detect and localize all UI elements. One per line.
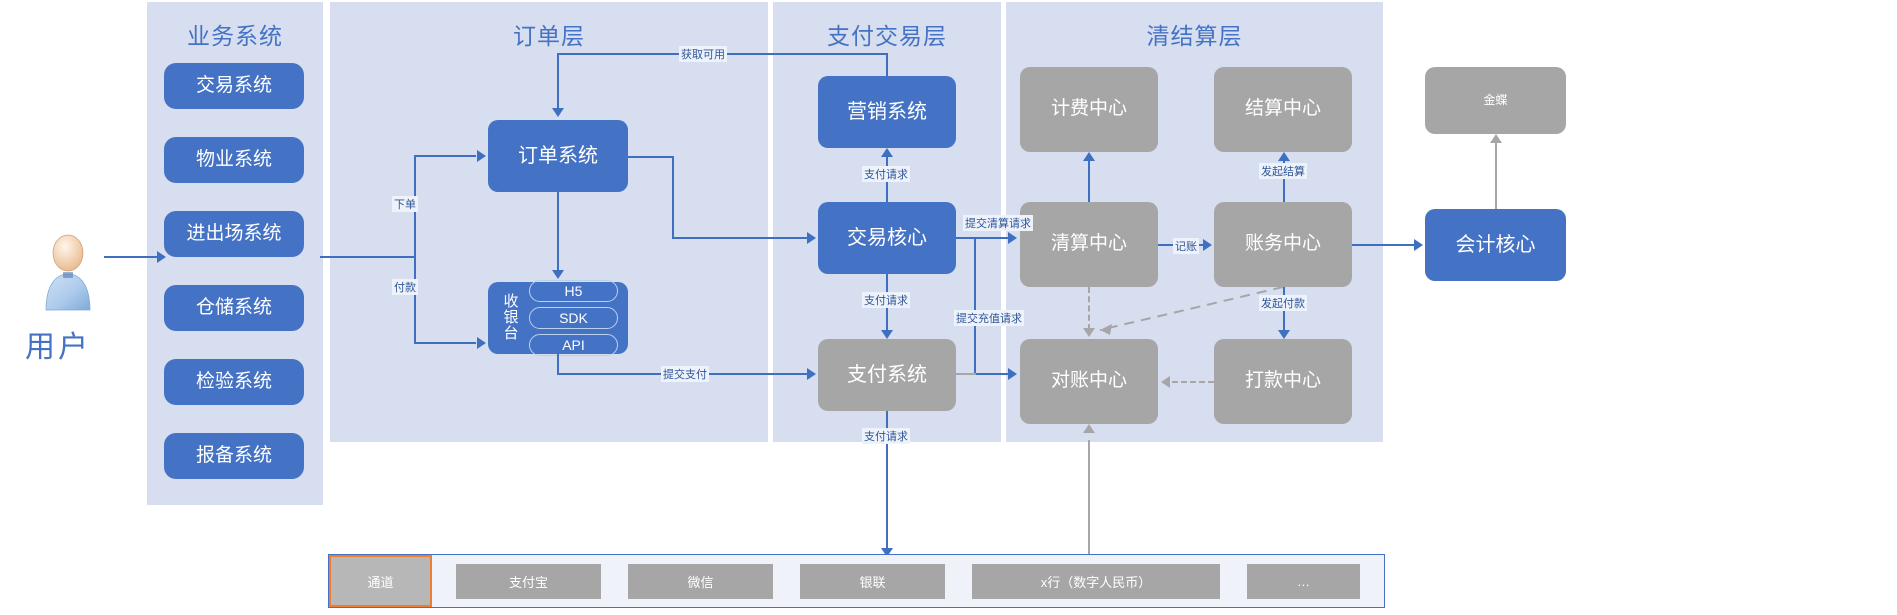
channel-digital-rmb[interactable]: x行（数字人民币） <box>972 564 1220 599</box>
edge-fetch-available-v-left <box>557 53 559 108</box>
cashier-channel-h5[interactable]: H5 <box>529 280 618 302</box>
node-account-center[interactable]: 账务中心 <box>1214 202 1352 287</box>
edge-label-submit-payment: 提交支付 <box>661 366 709 382</box>
node-order-system[interactable]: 订单系统 <box>488 120 628 192</box>
edge-core-to-recon-h <box>974 373 1011 375</box>
arrowhead-core-to-marketing <box>881 148 893 157</box>
architecture-diagram: 业务系统 订单层 支付交易层 清结算层 用户 交易系统 <box>0 0 1897 615</box>
arrowhead-accounting-to-kingdee <box>1490 134 1502 143</box>
node-property-system[interactable]: 物业系统 <box>164 137 304 183</box>
arrowhead-channel-to-recon <box>1083 424 1095 433</box>
lane-title-payment: 支付交易层 <box>773 17 1001 51</box>
edge-order-to-core-h1 <box>628 156 674 158</box>
user-label: 用户 <box>25 322 91 366</box>
channel-bar: 通道 支付宝 微信 银联 x行（数字人民币） … <box>328 554 1385 608</box>
edge-place-order <box>414 155 476 157</box>
arrowhead-place-order <box>477 150 486 162</box>
edge-accounting-to-kingdee <box>1495 143 1497 209</box>
edge-order-to-cashier <box>557 192 559 270</box>
node-inspection-system[interactable]: 检验系统 <box>164 359 304 405</box>
edge-core-to-recon-v <box>974 237 976 373</box>
edge-order-to-core-h2 <box>672 237 808 239</box>
node-payment-system[interactable]: 支付系统 <box>818 339 956 411</box>
node-settlement-center[interactable]: 结算中心 <box>1214 67 1352 152</box>
edge-label-fetch-available: 获取可用 <box>679 46 727 62</box>
edge-label-payment-request-pay: 支付请求 <box>862 292 910 308</box>
edge-pay <box>414 342 476 344</box>
arrowhead-clearing-to-account <box>1203 239 1212 251</box>
edge-business-trunk <box>320 256 415 258</box>
node-kingdee[interactable]: 金蝶 <box>1425 67 1566 134</box>
arrowhead-order-to-core <box>807 232 816 244</box>
node-transaction-core[interactable]: 交易核心 <box>818 202 956 274</box>
channel-more[interactable]: … <box>1247 564 1360 599</box>
edge-label-payment-request-channel: 支付请求 <box>862 428 910 444</box>
edge-order-branch-v <box>414 155 416 343</box>
arrowhead-account-to-settlement <box>1278 152 1290 161</box>
edge-label-initiate-settlement: 发起结算 <box>1259 163 1307 179</box>
edge-account-to-accounting <box>1352 244 1416 246</box>
arrowhead-clearing-to-billing <box>1083 152 1095 161</box>
arrowhead-core-to-pay <box>881 330 893 339</box>
edge-label-bookkeeping: 记账 <box>1173 238 1199 254</box>
node-remittance-center[interactable]: 打款中心 <box>1214 339 1352 424</box>
arrowhead-account-to-accounting <box>1414 239 1423 251</box>
node-billing-center[interactable]: 计费中心 <box>1020 67 1158 152</box>
arrowhead-order-to-cashier <box>552 270 564 279</box>
channel-alipay[interactable]: 支付宝 <box>456 564 601 599</box>
edge-pay-to-channel-2 <box>886 460 888 550</box>
arrowhead-pay <box>477 337 486 349</box>
node-access-system[interactable]: 进出场系统 <box>164 211 304 257</box>
edge-fetch-available-v-right <box>886 53 888 77</box>
node-clearing-center[interactable]: 清算中心 <box>1020 202 1158 287</box>
node-reconciliation-center[interactable]: 对账中心 <box>1020 339 1158 424</box>
edge-label-place-order: 下单 <box>392 196 418 212</box>
edge-pay-to-recon <box>956 373 976 375</box>
edge-label-submit-clearing: 提交清算请求 <box>963 215 1033 231</box>
cashier-channel-api[interactable]: API <box>529 334 618 356</box>
user-avatar-icon <box>40 232 96 312</box>
edge-account-to-recon-dashed <box>1090 285 1290 335</box>
channel-bar-list: 支付宝 微信 银联 x行（数字人民币） … <box>432 555 1384 607</box>
node-marketing-system[interactable]: 营销系统 <box>818 76 956 148</box>
arrowhead-remittance-to-recon <box>1161 376 1170 388</box>
node-warehouse-system[interactable]: 仓储系统 <box>164 285 304 331</box>
edge-remittance-to-recon-dashed <box>1172 381 1214 383</box>
edge-core-to-clearing <box>956 237 1011 239</box>
edge-label-submit-recharge: 提交充值请求 <box>954 310 1024 326</box>
arrowhead-fetch-available <box>552 108 564 117</box>
arrowhead-core-to-recon <box>1008 368 1017 380</box>
arrowhead-core-to-clearing <box>1008 232 1017 244</box>
edge-cashier-to-pay-v <box>557 354 559 375</box>
edge-order-to-core-v <box>672 156 674 239</box>
cashier-channel-sdk[interactable]: SDK <box>529 307 618 329</box>
channel-unionpay[interactable]: 银联 <box>800 564 945 599</box>
arrowhead-cashier-to-pay <box>807 368 816 380</box>
node-accounting-core[interactable]: 会计核心 <box>1425 209 1566 281</box>
edge-user-to-business <box>104 256 159 258</box>
node-filing-system[interactable]: 报备系统 <box>164 433 304 479</box>
lane-title-settlement: 清结算层 <box>1006 17 1383 51</box>
cashier-title: 收银台 <box>497 294 525 341</box>
lane-title-business: 业务系统 <box>147 17 323 51</box>
node-cashier[interactable]: 收银台 H5 SDK API <box>488 282 628 354</box>
edge-clearing-to-billing <box>1088 161 1090 202</box>
edge-label-pay: 付款 <box>392 279 418 295</box>
arrowhead-user-to-business <box>157 251 166 263</box>
channel-wechat[interactable]: 微信 <box>628 564 773 599</box>
edge-channel-to-recon <box>1088 440 1090 555</box>
node-transaction-system[interactable]: 交易系统 <box>164 63 304 109</box>
edge-label-payment-request-marketing: 支付请求 <box>862 166 910 182</box>
channel-bar-header[interactable]: 通道 <box>329 555 432 607</box>
